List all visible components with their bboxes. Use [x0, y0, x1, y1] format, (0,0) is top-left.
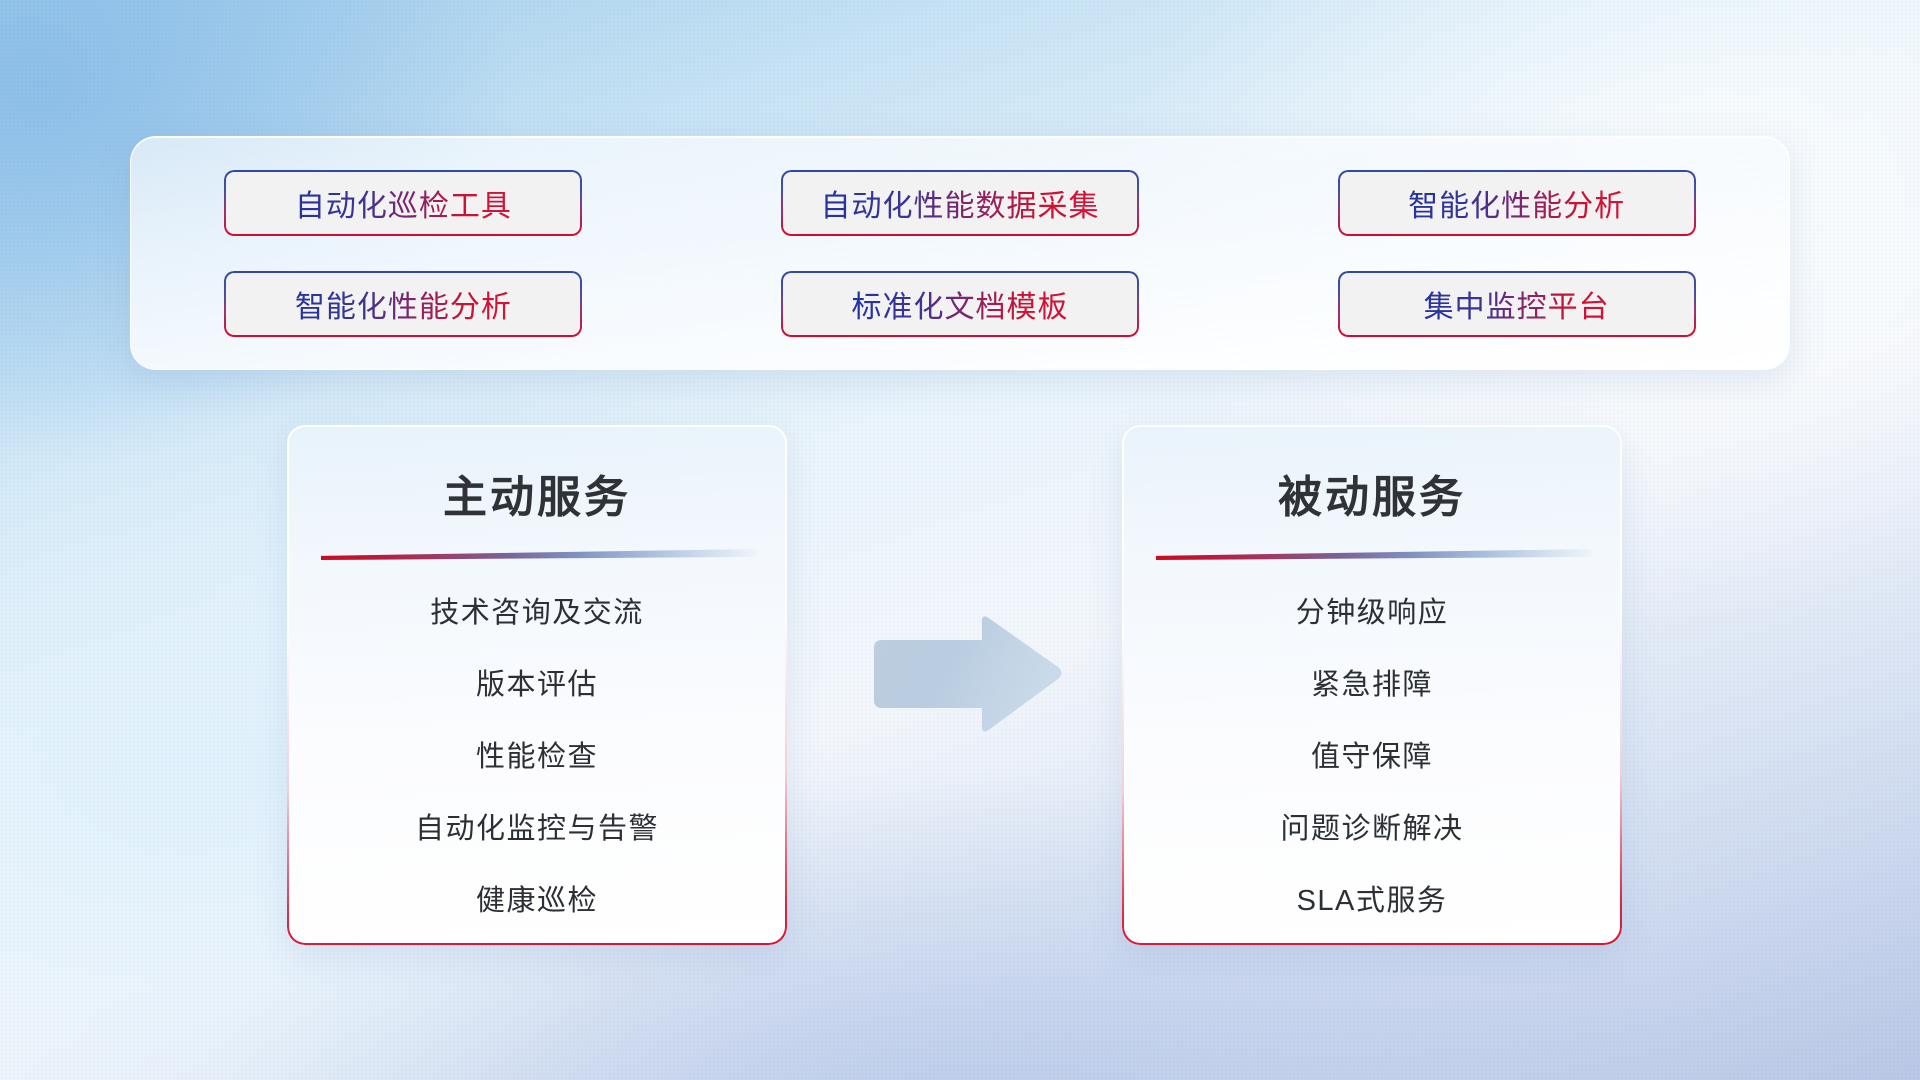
service-list-item: 问题诊断解决	[1280, 805, 1463, 847]
service-list-item: 值守保障	[1311, 733, 1433, 775]
service-list-item: SLA式服务	[1297, 877, 1448, 919]
service-item-list: 技术咨询及交流 版本评估 性能检查 自动化监控与告警 健康巡检	[287, 589, 787, 919]
service-list-item: 性能检查	[476, 733, 598, 775]
service-card-passive: 被动服务 分钟级响应 紧急排障 值守保障 问题诊断解决 SLA式服务	[1122, 425, 1622, 945]
arrow-right-icon	[866, 615, 1066, 735]
capability-chip-label: 自动化性能数据采集	[820, 181, 1099, 225]
gradient-rule	[1156, 549, 1592, 560]
service-list-item: 紧急排障	[1311, 661, 1433, 703]
service-card-title: 主动服务	[287, 461, 787, 525]
capability-chip-label: 自动化巡检工具	[295, 181, 512, 225]
title-divider	[1152, 545, 1592, 567]
capability-chip-4[interactable]: 智能化性能分析	[224, 271, 582, 337]
service-card-title: 被动服务	[1122, 461, 1622, 525]
service-list-item: 健康巡检	[476, 877, 598, 919]
title-divider	[317, 545, 757, 567]
service-list-item: 技术咨询及交流	[430, 589, 644, 631]
capability-chip-label: 标准化文档模板	[851, 282, 1068, 326]
gradient-rule	[321, 549, 757, 560]
service-card-active: 主动服务 技术咨询及交流 版本评估 性能检查 自动化监控与告警 健康巡检	[287, 425, 787, 945]
service-list-item: 版本评估	[476, 661, 598, 703]
capability-chip-grid: 自动化巡检工具 自动化性能数据采集 智能化性能分析 智能化性能分析 标准化文档模…	[131, 137, 1789, 369]
capability-chip-2[interactable]: 自动化性能数据采集	[781, 170, 1139, 236]
service-list-item: 分钟级响应	[1296, 589, 1449, 631]
capability-chip-label: 智能化性能分析	[295, 282, 512, 326]
service-item-list: 分钟级响应 紧急排障 值守保障 问题诊断解决 SLA式服务	[1122, 589, 1622, 919]
capability-chip-label: 集中监控平台	[1424, 282, 1610, 326]
service-list-item: 自动化监控与告警	[415, 805, 659, 847]
capability-chip-5[interactable]: 标准化文档模板	[781, 271, 1139, 337]
capability-chip-label: 智能化性能分析	[1408, 181, 1625, 225]
capability-chip-3[interactable]: 智能化性能分析	[1338, 170, 1696, 236]
capability-panel: 自动化巡检工具 自动化性能数据采集 智能化性能分析 智能化性能分析 标准化文档模…	[130, 136, 1790, 370]
capability-chip-1[interactable]: 自动化巡检工具	[224, 170, 582, 236]
diagram-canvas: 自动化巡检工具 自动化性能数据采集 智能化性能分析 智能化性能分析 标准化文档模…	[0, 0, 1920, 1080]
capability-chip-6[interactable]: 集中监控平台	[1338, 271, 1696, 337]
